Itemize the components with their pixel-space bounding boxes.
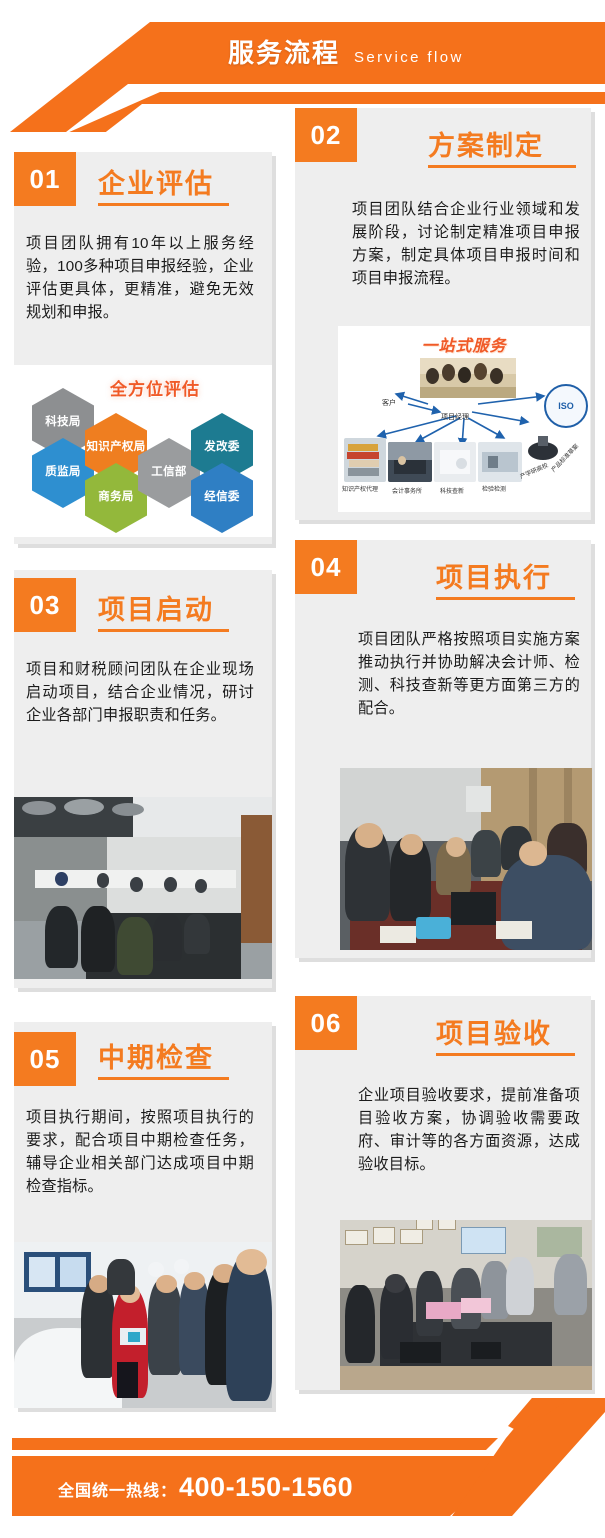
hex-node-4-label: 商务局 — [98, 491, 133, 504]
card-01-number: 01 — [30, 164, 61, 195]
card-01-title-rule — [98, 203, 229, 206]
card-05-body: 项目执行期间，按照项目执行的要求，配合项目中期检查任务，辅导企业相关部门达成项目… — [26, 1106, 254, 1198]
card-01-title: 企业评估 — [98, 162, 214, 201]
one-stop-service-diagram: 一站式服务 — [338, 326, 590, 512]
hex-node-3: 工信部 — [138, 438, 200, 508]
oss-seal-text: ISO — [558, 401, 574, 411]
card-06-body: 企业项目验收要求，提前准备项目验收方案，协调验收需要政府、审计等的各方面资源，达… — [358, 1084, 580, 1176]
hex-node-2: 质监局 — [32, 438, 94, 508]
card-05-title: 中期检查 — [98, 1036, 214, 1075]
hexagon-chart: 全方位评估 科技局 质监局 知识产权局 商务局 工信部 发改委 经信委 — [14, 365, 272, 537]
footer-hotline-label: 全国统一热线： — [58, 1477, 177, 1501]
hexagon-chart-title: 全方位评估 — [110, 375, 200, 400]
header-title-en: Service flow — [354, 49, 464, 66]
oss-branch-label-0: 知识产权代理 — [342, 484, 378, 493]
card-03-title: 项目启动 — [98, 588, 214, 627]
header-title-block: 服务流程 Service flow — [228, 33, 464, 70]
card-02-title-rule — [428, 165, 576, 168]
card-06-number-badge: 06 — [295, 996, 357, 1050]
card-04-number: 04 — [311, 552, 342, 583]
card-01-number-badge: 01 — [14, 152, 76, 206]
card-05-number: 05 — [30, 1044, 61, 1075]
acceptance-meeting-photo — [340, 1220, 592, 1390]
card-02-number: 02 — [311, 120, 342, 151]
card-05-title-rule — [98, 1077, 229, 1080]
card-04-number-badge: 04 — [295, 540, 357, 594]
service-flow-infographic: 服务流程 Service flow 01 企业评估 项目团队拥有10年以上服务经… — [0, 0, 605, 1538]
oss-chip-3 — [478, 442, 522, 482]
hex-node-1-label: 知识产权局 — [87, 441, 146, 454]
card-04-body: 项目团队严格按照项目实施方案推动执行并协助解决会计师、检测、科技查新等更方面第三… — [358, 628, 580, 720]
page-footer: 全国统一热线： 400-150-1560 — [0, 1398, 605, 1538]
oss-chip-0 — [344, 438, 386, 482]
oss-branch-label-2: 科技查新 — [440, 486, 464, 495]
hex-node-2-label: 质监局 — [45, 466, 80, 479]
card-02-number-badge: 02 — [295, 108, 357, 162]
card-02-body: 项目团队结合企业行业领域和发展阶段，讨论制定精准项目申报方案，制定具体项目申报时… — [352, 198, 580, 290]
meeting-room-photo — [14, 797, 272, 979]
card-03-number: 03 — [30, 590, 61, 621]
card-06-title: 项目验收 — [436, 1012, 552, 1051]
oss-branch-label-1: 会计事务所 — [392, 486, 422, 495]
footer-chevron-shape — [0, 1398, 605, 1538]
hex-node-5-label: 发改委 — [204, 441, 239, 454]
card-03-title-rule — [98, 629, 229, 632]
header-title-cn: 服务流程 — [228, 33, 340, 70]
card-06-title-rule — [436, 1053, 575, 1056]
card-04-title-rule — [436, 597, 575, 600]
card-04-title: 项目执行 — [436, 556, 552, 595]
footer-hotline-block: 全国统一热线： 400-150-1560 — [58, 1472, 353, 1503]
card-03-number-badge: 03 — [14, 578, 76, 632]
oss-branch-label-3: 检验检测 — [482, 484, 506, 493]
hex-node-4: 商务局 — [85, 463, 147, 533]
card-05-number-badge: 05 — [14, 1032, 76, 1086]
oss-label-customer: 客户 — [382, 398, 396, 408]
card-03-body: 项目和财税顾问团队在企业现场启动项目，结合企业情况，研讨企业各部门申报职责和任务… — [26, 658, 254, 727]
working-session-photo — [340, 768, 592, 950]
oss-label-pm: 项目经理 — [441, 412, 469, 422]
card-06-number: 06 — [311, 1008, 342, 1039]
hex-node-0-label: 科技局 — [45, 416, 80, 429]
footer-hotline-number: 400-150-1560 — [179, 1472, 353, 1503]
card-02-title: 方案制定 — [428, 124, 544, 163]
oss-chip-2 — [434, 442, 476, 482]
showroom-visit-photo — [14, 1242, 272, 1408]
hex-node-6: 经信委 — [191, 463, 253, 533]
oss-chip-1 — [388, 442, 432, 482]
card-01-body: 项目团队拥有10年以上服务经验，100多种项目申报经验，企业评估更具体，更精准，… — [26, 232, 254, 324]
hex-node-3-label: 工信部 — [151, 466, 186, 479]
oss-iso-seal: ISO — [544, 384, 588, 428]
hex-node-6-label: 经信委 — [204, 491, 239, 504]
